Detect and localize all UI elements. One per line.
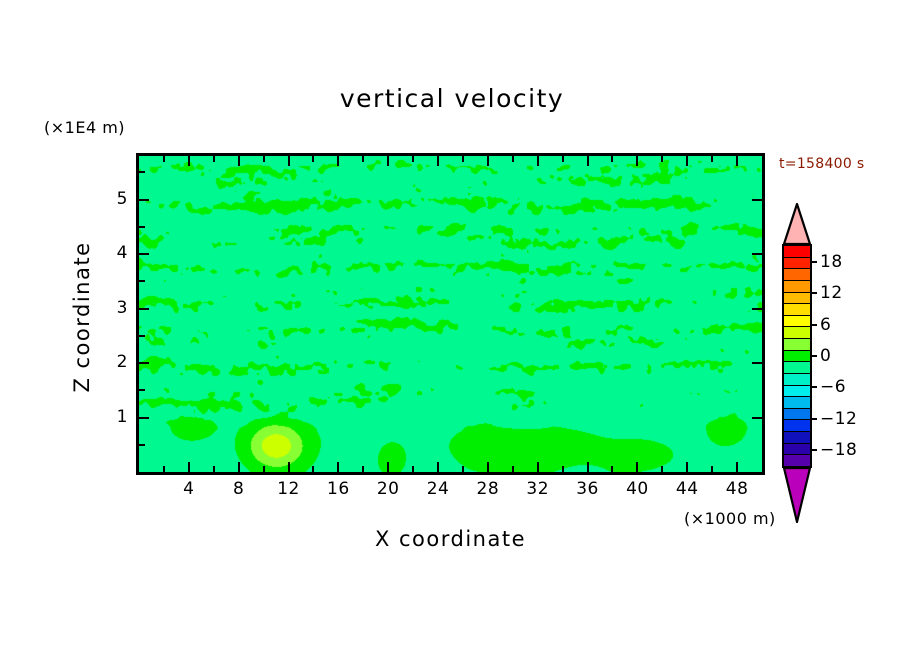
- x-tick-major-top: [437, 156, 439, 166]
- colorbar-band: [784, 281, 810, 293]
- x-tick-major: [288, 462, 290, 472]
- x-tick-major: [686, 462, 688, 472]
- x-tick-minor-top: [562, 156, 564, 162]
- x-tick-label: 40: [614, 479, 660, 499]
- x-tick-label: 8: [216, 479, 262, 499]
- y-tick-minor: [139, 226, 145, 228]
- y-tick-label: 4: [100, 243, 128, 263]
- y-tick-major-right: [752, 417, 762, 419]
- y-tick-minor: [139, 389, 145, 391]
- y-tick-major-right: [752, 199, 762, 201]
- colorbar-band: [784, 455, 810, 466]
- y-tick-label: 5: [100, 189, 128, 209]
- x-tick-minor: [412, 466, 414, 472]
- colorbar-band: [784, 293, 810, 305]
- colorbar-band: [784, 444, 810, 456]
- colorbar-band: [784, 327, 810, 339]
- colorbar-tick: [812, 261, 817, 263]
- colorbar-band: [784, 420, 810, 432]
- x-tick-major-top: [288, 156, 290, 166]
- x-tick-minor-top: [263, 156, 265, 162]
- x-tick-minor-top: [412, 156, 414, 162]
- x-tick-label: 32: [515, 479, 561, 499]
- x-tick-major-top: [686, 156, 688, 166]
- x-axis-unit-label: (×1000 m): [684, 509, 776, 528]
- x-tick-minor-top: [611, 156, 613, 162]
- y-tick-label: 2: [100, 352, 128, 372]
- x-tick-major-top: [337, 156, 339, 166]
- colorbar-under-arrow-icon: [782, 467, 812, 523]
- colorbar-band: [784, 258, 810, 270]
- x-tick-minor: [163, 466, 165, 472]
- colorbar-band: [784, 386, 810, 398]
- x-tick-major-top: [238, 156, 240, 166]
- x-tick-major: [238, 462, 240, 472]
- colorbar-band: [784, 351, 810, 363]
- colorbar-tick-label: −18: [820, 440, 857, 460]
- x-tick-minor: [661, 466, 663, 472]
- colorbar-tick-label: 6: [820, 315, 831, 335]
- x-tick-label: 44: [664, 479, 710, 499]
- x-tick-minor: [512, 466, 514, 472]
- contour-field: [139, 156, 762, 472]
- y-tick-minor: [139, 335, 145, 337]
- colorbar-band: [784, 316, 810, 328]
- colorbar-band: [784, 374, 810, 386]
- colorbar-band: [784, 304, 810, 316]
- x-tick-minor-top: [512, 156, 514, 162]
- colorbar-band: [784, 246, 810, 258]
- x-tick-major: [537, 462, 539, 472]
- colorbar-bands: [782, 244, 812, 468]
- y-tick-major-right: [752, 253, 762, 255]
- x-tick-minor-top: [312, 156, 314, 162]
- y-axis-title: Z coordinate: [70, 207, 94, 427]
- x-axis-title: X coordinate: [136, 527, 765, 551]
- colorbar-tick-label: −6: [820, 377, 846, 397]
- colorbar-tick: [812, 418, 817, 420]
- x-tick-label: 36: [565, 479, 611, 499]
- x-tick-major-top: [387, 156, 389, 166]
- x-tick-major: [487, 462, 489, 472]
- x-tick-minor: [462, 466, 464, 472]
- x-tick-major: [387, 462, 389, 472]
- colorbar-tick: [812, 449, 817, 451]
- colorbar-band: [784, 269, 810, 281]
- y-tick-major: [139, 253, 149, 255]
- y-tick-major: [139, 199, 149, 201]
- x-tick-minor: [562, 466, 564, 472]
- colorbar-band: [784, 409, 810, 421]
- y-tick-minor: [139, 444, 145, 446]
- x-tick-label: 48: [714, 479, 760, 499]
- x-tick-label: 16: [315, 479, 361, 499]
- x-tick-minor: [362, 466, 364, 472]
- colorbar: 181260−6−12−18: [782, 203, 812, 523]
- x-tick-minor-top: [362, 156, 364, 162]
- y-tick-major: [139, 417, 149, 419]
- x-tick-minor: [213, 466, 215, 472]
- x-tick-major-top: [487, 156, 489, 166]
- colorbar-tick-label: 18: [820, 252, 843, 272]
- y-tick-minor: [139, 280, 145, 282]
- time-annotation: t=158400 s: [779, 156, 864, 172]
- y-tick-label: 1: [100, 407, 128, 427]
- x-tick-label: 20: [365, 479, 411, 499]
- x-tick-minor-top: [163, 156, 165, 162]
- colorbar-tick-label: −12: [820, 409, 857, 429]
- x-tick-major: [736, 462, 738, 472]
- x-tick-label: 28: [465, 479, 511, 499]
- y-tick-label: 3: [100, 298, 128, 318]
- x-tick-major-top: [537, 156, 539, 166]
- x-tick-minor: [711, 466, 713, 472]
- y-tick-major: [139, 362, 149, 364]
- y-tick-major-right: [752, 362, 762, 364]
- figure-canvas: vertical velocity (×1E4 m) (×1000 m) Z c…: [0, 0, 904, 654]
- x-tick-label: 24: [415, 479, 461, 499]
- y-tick-minor: [139, 171, 145, 173]
- x-tick-minor: [263, 466, 265, 472]
- x-tick-minor-top: [661, 156, 663, 162]
- y-tick-major-right: [752, 308, 762, 310]
- x-tick-major-top: [636, 156, 638, 166]
- x-tick-minor: [312, 466, 314, 472]
- y-tick-major: [139, 308, 149, 310]
- x-tick-label: 12: [266, 479, 312, 499]
- x-tick-major: [437, 462, 439, 472]
- colorbar-band: [784, 362, 810, 374]
- y-axis-unit-label: (×1E4 m): [44, 118, 125, 137]
- x-tick-major-top: [587, 156, 589, 166]
- contour-plot-area: [136, 153, 765, 475]
- x-tick-major-top: [188, 156, 190, 166]
- colorbar-tick-label: 12: [820, 283, 843, 303]
- page-title: vertical velocity: [0, 84, 904, 113]
- x-tick-major: [337, 462, 339, 472]
- x-tick-minor-top: [462, 156, 464, 162]
- x-tick-major: [188, 462, 190, 472]
- x-tick-major: [587, 462, 589, 472]
- colorbar-tick: [812, 292, 817, 294]
- x-tick-minor-top: [711, 156, 713, 162]
- colorbar-tick-label: 0: [820, 346, 831, 366]
- x-tick-minor-top: [213, 156, 215, 162]
- x-tick-minor: [611, 466, 613, 472]
- colorbar-tick: [812, 324, 817, 326]
- colorbar-over-arrow-icon: [782, 203, 812, 245]
- colorbar-band: [784, 432, 810, 444]
- colorbar-tick: [812, 355, 817, 357]
- colorbar-tick: [812, 386, 817, 388]
- x-tick-major: [636, 462, 638, 472]
- x-tick-label: 4: [166, 479, 212, 499]
- colorbar-band: [784, 397, 810, 409]
- colorbar-band: [784, 339, 810, 351]
- x-tick-major-top: [736, 156, 738, 166]
